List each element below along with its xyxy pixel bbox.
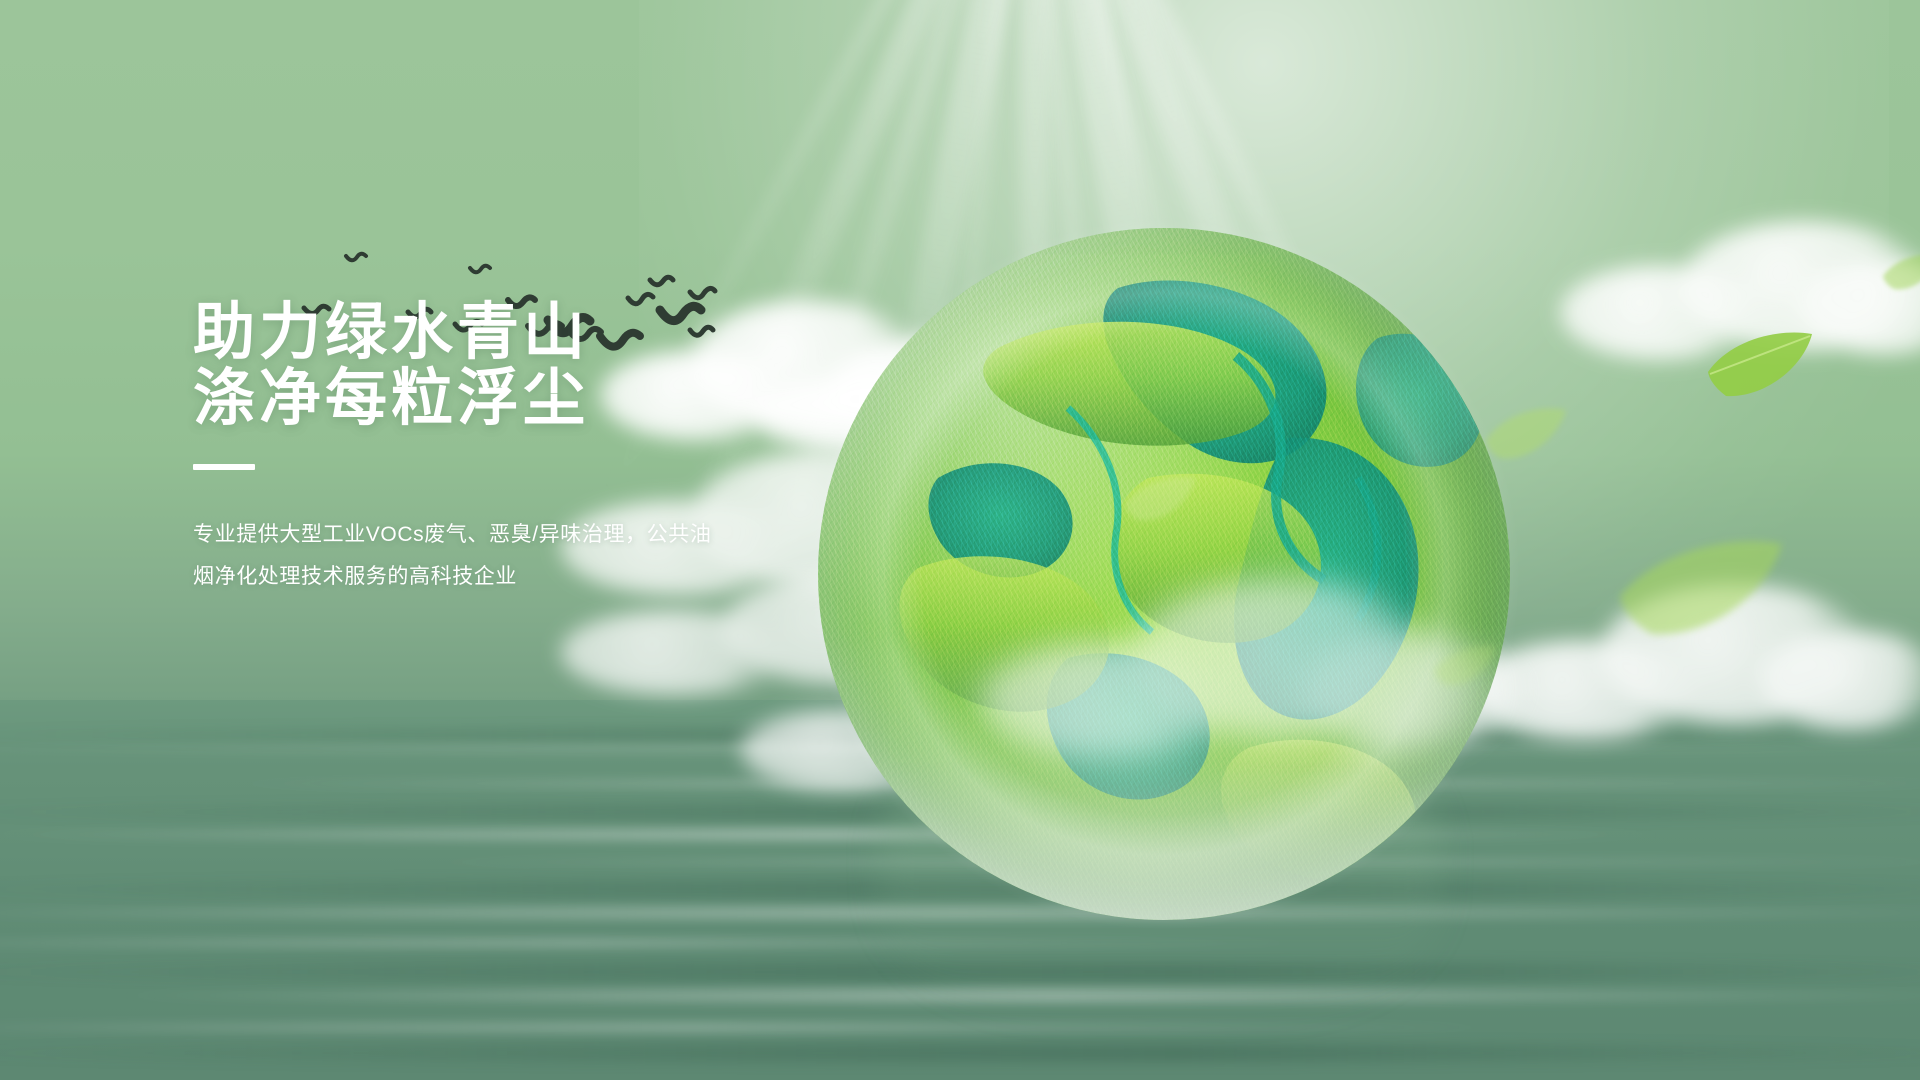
leaf-right-upper <box>1700 320 1820 410</box>
hero-copy: 助力绿水青山 涤净每粒浮尘 专业提供大型工业VOCs废气、恶臭/异味治理，公共油… <box>193 300 953 598</box>
leaf-right-lower-blurred <box>1610 530 1790 650</box>
headline-line-1: 助力绿水青山 <box>193 300 953 366</box>
hero-subtitle: 专业提供大型工业VOCs废气、恶臭/异味治理，公共油烟净化处理技术服务的高科技企… <box>193 514 723 598</box>
cloud-right-upper <box>1560 215 1920 385</box>
title-divider <box>193 464 255 470</box>
headline-line-2: 涤净每粒浮尘 <box>193 366 953 432</box>
hero-banner: 助力绿水青山 涤净每粒浮尘 专业提供大型工业VOCs废气、恶臭/异味治理，公共油… <box>0 0 1920 1080</box>
leaf-edge-right <box>1880 250 1920 298</box>
page-title: 助力绿水青山 涤净每粒浮尘 <box>193 300 953 432</box>
